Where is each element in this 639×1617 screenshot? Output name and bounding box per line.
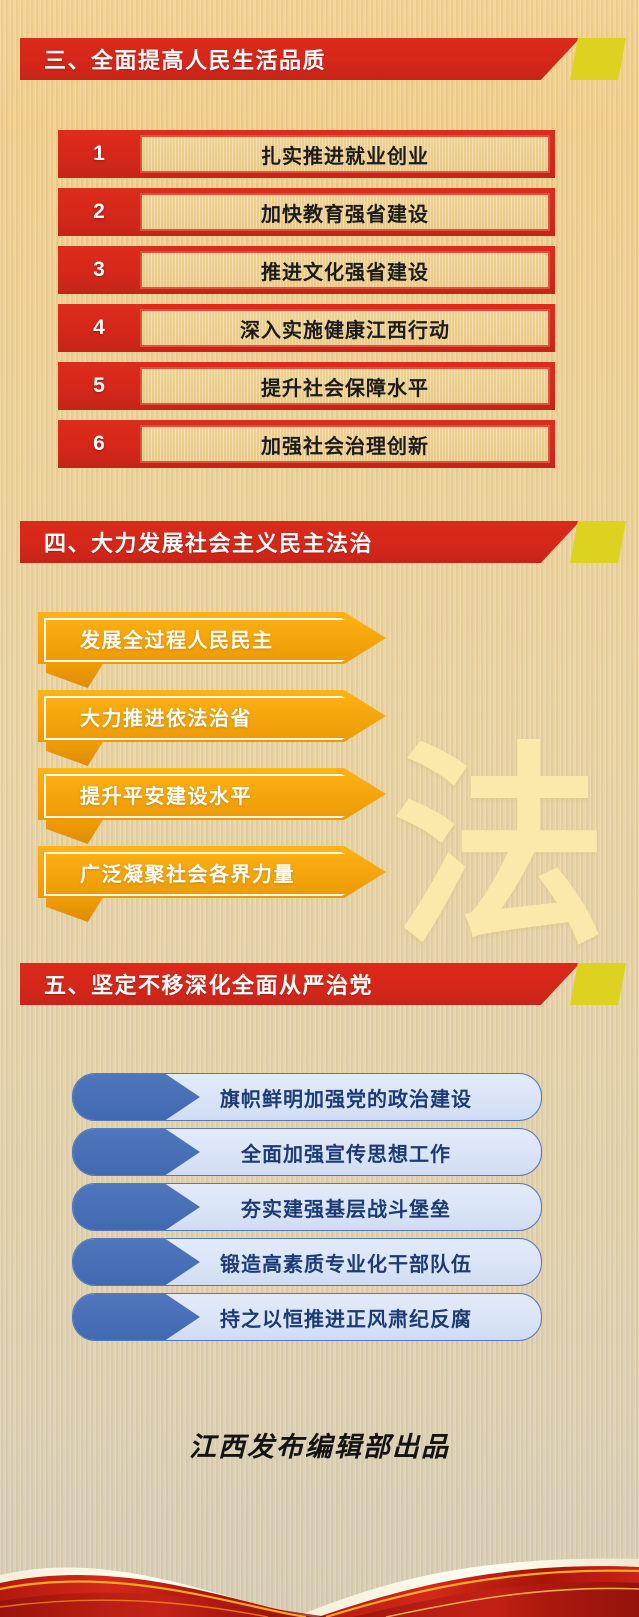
ribbon-tail-icon [46,818,104,844]
row-label: 扎实推进就业创业 [140,135,550,173]
section-header-wedge-icon [570,963,626,1005]
ribbon-banner[interactable]: 广泛凝聚社会各界力量 [38,846,386,898]
infographic-poster: 法 三、全面提高人民生活品质 1 扎实推进就业创业 2 加快教育强省建设 3 推… [0,0,639,1617]
row-label: 加强社会治理创新 [140,425,550,463]
ribbon-label: 广泛凝聚社会各界力量 [38,858,295,887]
numbered-row[interactable]: 2 加快教育强省建设 [58,188,555,236]
watermark-character-fa: 法 [392,740,607,955]
ribbon-banner[interactable]: 发展全过程人民民主 [38,612,386,664]
numbered-row[interactable]: 5 提升社会保障水平 [58,362,555,410]
list-item-label: 旗帜鲜明加强党的政治建设 [73,1083,541,1112]
ribbon-tail-icon [46,662,104,688]
section-header-bar: 三、全面提高人民生活品质 [20,38,580,80]
section-header-wedge-icon [570,38,626,80]
section-header-bar: 五、坚定不移深化全面从严治党 [20,963,580,1005]
list-item-label: 锻造高素质专业化干部队伍 [73,1248,541,1277]
row-label: 推进文化强省建设 [140,251,550,289]
bottom-ribbon-decoration [0,1497,639,1617]
row-number: 2 [58,188,140,236]
list-item[interactable]: 夯实建强基层战斗堡垒 [72,1183,542,1231]
ribbon-body: 广泛凝聚社会各界力量 [38,846,386,898]
section-header-bar: 四、大力发展社会主义民主法治 [20,521,580,563]
ribbon-wave-graphic [0,1497,639,1617]
section-title-five: 五、坚定不移深化全面从严治党 [20,968,373,1000]
row-number: 4 [58,304,140,352]
ribbon-label: 发展全过程人民民主 [38,624,274,653]
ribbon-body: 大力推进依法治省 [38,690,386,742]
section-header-wedge-icon [570,521,626,563]
section-header-four: 四、大力发展社会主义民主法治 [20,521,620,563]
list-item[interactable]: 旗帜鲜明加强党的政治建设 [72,1073,542,1121]
section-header-three: 三、全面提高人民生活品质 [20,38,620,80]
section-header-five: 五、坚定不移深化全面从严治党 [20,963,620,1005]
row-number: 3 [58,246,140,294]
ribbon-label: 大力推进依法治省 [38,702,252,731]
ribbon-body: 发展全过程人民民主 [38,612,386,664]
ribbon-banner[interactable]: 大力推进依法治省 [38,690,386,742]
row-label: 提升社会保障水平 [140,367,550,405]
numbered-row[interactable]: 6 加强社会治理创新 [58,420,555,468]
list-item[interactable]: 全面加强宣传思想工作 [72,1128,542,1176]
ribbon-body: 提升平安建设水平 [38,768,386,820]
numbered-row[interactable]: 1 扎实推进就业创业 [58,130,555,178]
publisher-credit: 江西发布编辑部出品 [0,1425,639,1464]
row-label: 深入实施健康江西行动 [140,309,550,347]
numbered-row[interactable]: 4 深入实施健康江西行动 [58,304,555,352]
list-item[interactable]: 持之以恒推进正风肃纪反腐 [72,1293,542,1341]
section-title-four: 四、大力发展社会主义民主法治 [20,526,373,558]
ribbon-label: 提升平安建设水平 [38,780,252,809]
ribbon-tail-icon [46,896,104,922]
ribbon-tail-icon [46,740,104,766]
list-item-label: 全面加强宣传思想工作 [73,1138,541,1167]
ribbon-banner[interactable]: 提升平安建设水平 [38,768,386,820]
row-label: 加快教育强省建设 [140,193,550,231]
section-title-three: 三、全面提高人民生活品质 [20,43,326,75]
row-number: 1 [58,130,140,178]
list-item-label: 持之以恒推进正风肃纪反腐 [73,1303,541,1332]
list-item[interactable]: 锻造高素质专业化干部队伍 [72,1238,542,1286]
row-number: 6 [58,420,140,468]
row-number: 5 [58,362,140,410]
list-item-label: 夯实建强基层战斗堡垒 [73,1193,541,1222]
numbered-row[interactable]: 3 推进文化强省建设 [58,246,555,294]
